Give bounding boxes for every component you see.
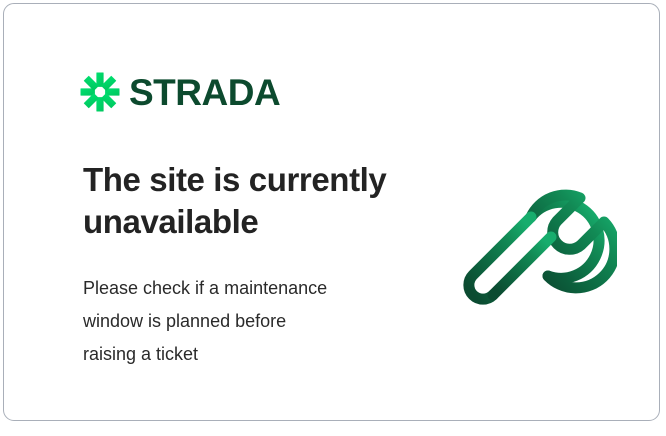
page-title: The site is currently unavailable <box>83 159 428 243</box>
description-line: raising a ticket <box>83 338 413 371</box>
wrench-icon <box>459 154 617 316</box>
description-line: window is planned before <box>83 305 413 338</box>
strada-asterisk-icon <box>80 72 120 112</box>
description-line: Please check if a maintenance <box>83 272 413 305</box>
status-card: STRADA The site is currently unavailable… <box>3 3 660 421</box>
error-page: STRADA The site is currently unavailable… <box>0 0 666 436</box>
brand-logo: STRADA <box>80 72 280 112</box>
page-description: Please check if a maintenance window is … <box>83 272 413 371</box>
brand-wordmark: STRADA <box>129 74 280 111</box>
